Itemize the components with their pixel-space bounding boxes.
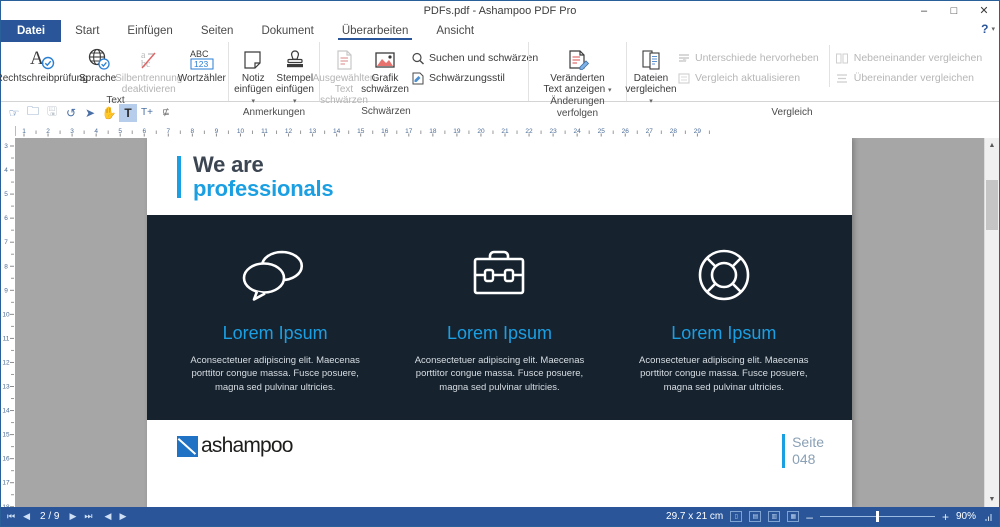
headline-line2: professionals [193,177,333,201]
redaction-style-icon [410,71,425,85]
vergleich-aktualisieren-button[interactable]: Vergleich aktualisieren [672,69,823,87]
vergleich-small-buttons-left: Unterschiede hervorheben Vergleich aktua… [672,45,830,87]
suchen-und-schwaerzen-button[interactable]: Suchen und schwärzen [406,49,542,67]
zoom-in-button[interactable]: + [942,512,949,522]
stacked-compare-icon [835,71,850,85]
ribbon-group-anmerkungen: Notiz einfügen ▾ Stempel einfügen ▾ Anme… [228,42,319,101]
page-label: Seite [792,434,824,451]
close-button[interactable]: ✕ [969,1,999,20]
unterschiede-hervorheben-button[interactable]: Unterschiede hervorheben [672,49,823,67]
search-redact-icon [410,51,425,65]
page-size-label: 29.7 x 21 cm [666,511,723,522]
first-page-button[interactable]: ⏮ [7,511,15,522]
last-page-button[interactable]: ⏭ [84,511,92,522]
hyphenation-icon: a bc [137,47,161,71]
ribbon-group-schwaerzen: Ausgewählten Text schwärzen Grafik schwä… [319,42,528,101]
minimize-button[interactable]: – [909,1,939,20]
ribbon: A Rechtschreibprüfung [1,42,999,102]
ashampoo-logo: ashampoo [177,434,293,458]
svg-text:12: 12 [2,359,10,366]
dateien-vergleichen-button[interactable]: Dateien vergleichen ▾ [631,45,671,107]
zoom-out-button[interactable]: – [806,512,813,522]
feature-column: Lorem Ipsum Aconsectetuer adipiscing eli… [387,243,611,394]
stempel-einfuegen-label: Stempel einfügen [276,73,314,95]
headline-line1: We are [193,153,333,177]
title-bar: PDFs.pdf - Ashampoo PDF Pro – □ ✕ [1,1,999,20]
svg-text:10: 10 [2,311,10,318]
zoom-slider-handle[interactable] [876,511,879,522]
schwaerzungsstil-label: Schwärzungsstil [429,72,505,84]
feature-panel: Lorem Ipsum Aconsectetuer adipiscing eli… [147,215,852,420]
veraenderten-text-anzeigen-label: Veränderten Text anzeigen [543,73,605,95]
wortzaehler-button[interactable]: ABC 123 Wortzähler [180,45,224,84]
feature-body: Aconsectetuer adipiscing elit. Maecenas … [412,354,587,394]
horizontal-ruler-row: 1234567891011121314151617181920212223242… [1,124,999,138]
two-page-view-icon[interactable]: ▥ [768,511,780,522]
notiz-einfuegen-button[interactable]: Notiz einfügen ▾ [233,45,274,107]
veraenderten-text-anzeigen-button[interactable]: Veränderten Text anzeigen ▾ [535,45,621,96]
status-bar: ⏮ ◀ 2 / 9 ▶ ⏭ ◀ ▶ 29.7 x 21 cm ▯ ▤ ▥ ▦ –… [1,507,999,526]
scroll-up-arrow-icon[interactable]: ▲ [985,138,999,153]
language-globe-icon [86,47,110,71]
svg-text:ABC: ABC [190,49,209,59]
spellcheck-icon: A [28,47,56,71]
nebeneinander-vergleichen-label: Nebeneinander vergleichen [854,52,982,64]
nebeneinander-vergleichen-button[interactable]: Nebeneinander vergleichen [831,49,986,67]
svg-text:13: 13 [2,384,10,391]
grid-view-icon[interactable]: ▦ [787,511,799,522]
grafik-schwaerzen-label: Grafik schwärzen [361,73,409,95]
window-buttons: – □ ✕ [909,1,999,20]
vertical-scrollbar-thumb[interactable] [986,180,998,230]
grafik-schwaerzen-button[interactable]: Grafik schwärzen [365,45,405,95]
vergleich-small-buttons-right: Nebeneinander vergleichen Übereinander v… [831,45,986,87]
single-page-view-icon[interactable]: ▯ [730,511,742,522]
suchen-und-schwaerzen-label: Suchen und schwärzen [429,52,538,64]
page-headline: We are professionals [193,153,333,201]
scroll-down-arrow-icon[interactable]: ▼ [985,492,999,507]
chevron-down-icon: ▾ [293,98,297,105]
horizontal-ruler[interactable]: 1234567891011121314151617181920212223242… [15,124,999,138]
speech-bubbles-icon [237,243,313,307]
wortzaehler-label: Wortzähler [178,73,226,84]
feature-body: Aconsectetuer adipiscing elit. Maecenas … [188,354,363,394]
chevron-down-icon: ▾ [251,98,255,105]
page-header: We are professionals [147,138,852,215]
page-number: 048 [792,451,824,468]
svg-text:6: 6 [4,215,8,222]
next-view-button[interactable]: ▶ [119,511,126,522]
compare-files-icon [640,47,662,71]
show-changed-text-icon [566,47,590,71]
feature-column: Lorem Ipsum Aconsectetuer adipiscing eli… [163,243,387,394]
sprache-button[interactable]: Sprache [77,45,118,84]
ribbon-group-text-label: Text [7,95,224,107]
svg-text:A: A [30,48,44,69]
redact-image-icon [373,47,397,71]
feature-title: Lorem Ipsum [223,323,328,344]
schwaerzungsstil-button[interactable]: Schwärzungsstil [406,69,542,87]
page-indicator[interactable]: 2 / 9 [38,511,61,522]
ruler-corner [1,124,15,138]
vertical-ruler[interactable]: 3456789101112131415161718 [1,138,15,507]
previous-view-button[interactable]: ◀ [105,511,112,522]
svg-text:123: 123 [194,59,208,69]
schwaerzen-small-buttons: Suchen und schwärzen Schwärzungsstil [406,45,542,87]
work-area: 3456789101112131415161718 We are profess… [1,138,999,507]
page-footer: ashampoo Seite 048 [147,420,852,470]
redact-text-icon [333,47,355,71]
tab-dokument[interactable]: Dokument [247,20,327,42]
abc-123-icon: ABC 123 [187,47,217,71]
feature-title: Lorem Ipsum [671,323,776,344]
vergleich-aktualisieren-label: Vergleich aktualisieren [695,72,800,84]
feature-column: Lorem Ipsum Aconsectetuer adipiscing eli… [612,243,836,394]
vertical-scrollbar[interactable]: ▲ ▼ [984,138,999,507]
chevron-down-icon: ▾ [608,87,612,94]
maximize-button[interactable]: □ [939,1,969,20]
tab-start[interactable]: Start [61,20,113,42]
ribbon-group-vergleich-label: Vergleich [671,107,913,119]
svg-text:3: 3 [4,143,8,150]
svg-text:8: 8 [4,263,8,270]
briefcase-icon [468,243,530,307]
unterschiede-hervorheben-label: Unterschiede hervorheben [695,52,819,64]
previous-page-button[interactable]: ◀ [23,511,30,522]
stamp-icon [284,47,306,71]
status-bar-right: 29.7 x 21 cm ▯ ▤ ▥ ▦ – + 90% [666,511,993,522]
dateien-vergleichen-label: Dateien vergleichen [625,73,676,95]
tab-datei[interactable]: Datei [1,20,61,42]
rechtschreibpruefung-button[interactable]: A Rechtschreibprüfung [7,45,76,84]
ashampoo-mark-icon [177,436,198,457]
tab-einfuegen[interactable]: Einfügen [113,20,186,42]
page-number-block: Seite 048 [782,434,824,468]
uebereinander-vergleichen-label: Übereinander vergleichen [854,72,974,84]
feature-body: Aconsectetuer adipiscing elit. Maecenas … [636,354,811,394]
page-navigation: ⏮ ◀ 2 / 9 ▶ ⏭ ◀ ▶ [7,511,126,522]
svg-text:16: 16 [2,456,10,463]
refresh-comparison-icon [676,71,691,85]
sprache-label: Sprache [79,73,116,84]
svg-text:15: 15 [2,432,10,439]
stempel-einfuegen-button[interactable]: Stempel einfügen ▾ [275,45,316,107]
svg-text:4: 4 [4,167,8,174]
page-number-accent [782,434,785,468]
continuous-view-icon[interactable]: ▤ [749,511,761,522]
notiz-einfuegen-label: Notiz einfügen [234,73,272,95]
svg-text:9: 9 [4,287,8,294]
ribbon-group-aenderungen-verfolgen: Veränderten Text anzeigen ▾ Änderungen v… [528,42,626,101]
svg-text:17: 17 [2,480,10,487]
tab-seiten[interactable]: Seiten [187,20,248,42]
feature-title: Lorem Ipsum [447,323,552,344]
lifebuoy-icon [694,243,754,307]
chevron-down-icon: ▾ [649,98,653,105]
svg-text:7: 7 [4,239,8,246]
document-canvas[interactable]: We are professionals Lorem I [15,138,984,507]
ribbon-group-text: A Rechtschreibprüfung [3,42,228,101]
application-window: PDFs.pdf - Ashampoo PDF Pro – □ ✕ Datei … [0,0,1000,527]
svg-text:18: 18 [2,504,10,507]
svg-text:14: 14 [2,408,10,415]
ribbon-group-vergleich: Dateien vergleichen ▾ Unterschiede [626,42,917,101]
silbentrennung-label: Silbentrennung deaktivieren [115,73,182,95]
help-icon[interactable]: ? [981,22,988,36]
next-page-button[interactable]: ▶ [70,511,77,522]
rechtschreibpruefung-label: Rechtschreibprüfung [0,73,88,84]
side-by-side-icon [835,51,850,65]
ashampoo-wordmark: ashampoo [201,434,293,458]
ausgewaehlten-text-schwaerzen-button[interactable]: Ausgewählten Text schwärzen [324,45,364,106]
pdf-page[interactable]: We are professionals Lorem I [147,138,852,507]
help-area: ? ▾ [981,22,995,36]
sticky-note-icon [242,47,264,71]
window-title: PDFs.pdf - Ashampoo PDF Pro [424,5,577,17]
silbentrennung-button[interactable]: a bc Silbentrennung deaktivieren [119,45,179,95]
zoom-level-label: 90% [956,511,976,522]
ribbon-tab-bar: Datei Start Einfügen Seiten Dokument Übe… [1,20,999,42]
tab-ansicht[interactable]: Ansicht [422,20,488,42]
zoom-slider[interactable] [820,511,935,522]
uebereinander-vergleichen-button[interactable]: Übereinander vergleichen [831,69,986,87]
ribbon-group-anmerkungen-label: Anmerkungen [233,107,315,119]
resize-grip-icon[interactable] [983,512,993,522]
ribbon-group-schwaerzen-label: Schwärzen [324,106,448,118]
highlight-differences-icon [676,51,691,65]
ribbon-group-aenderungen-verfolgen-label: Änderungen verfolgen [533,96,622,108]
svg-text:5: 5 [4,191,8,198]
svg-text:11: 11 [3,335,10,342]
tab-ueberarbeiten[interactable]: Überarbeiten [328,20,422,42]
accent-bar [177,156,181,198]
chevron-down-icon[interactable]: ▾ [991,25,995,33]
